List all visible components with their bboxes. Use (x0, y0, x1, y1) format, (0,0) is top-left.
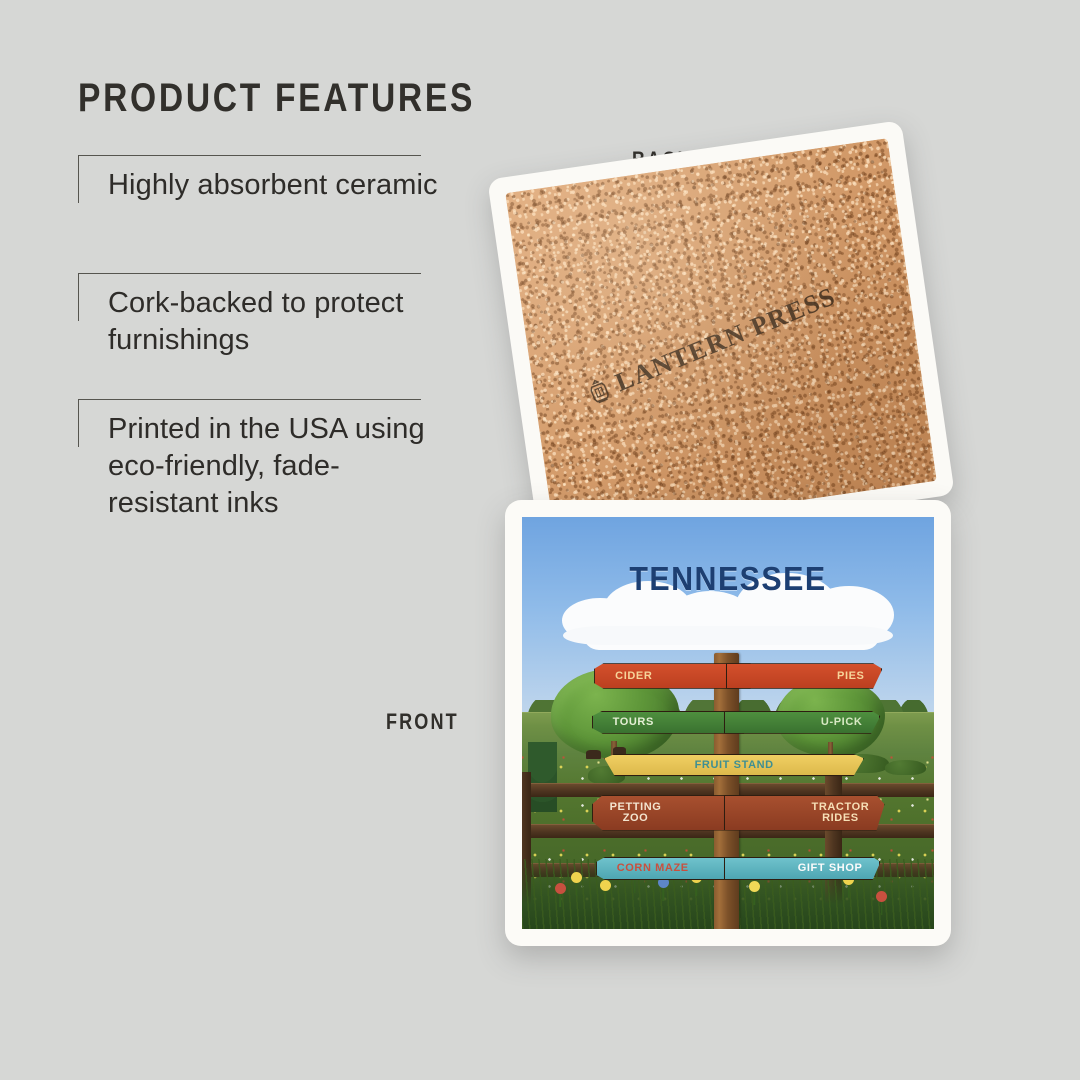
sign-fruit-stand: FRUIT STAND (604, 754, 864, 776)
artwork-surface: TENNESSEE (522, 517, 934, 929)
artwork-title: TENNESSEE (538, 560, 917, 598)
feature-divider-top (78, 399, 421, 400)
brand-stamp: LANTERN PRESS (583, 281, 840, 409)
sign-row: CORN MAZE GIFT SHOP (522, 857, 934, 880)
sign-row: TOURS U-PICK (522, 711, 934, 734)
lantern-icon (584, 375, 614, 407)
brand-text: LANTERN PRESS (611, 281, 840, 398)
sign-label: FRUIT STAND (695, 759, 774, 771)
feature-text: Cork-backed to protect furnishings (108, 285, 450, 359)
cloud-strip (563, 626, 893, 645)
feature-divider-left (78, 155, 79, 203)
sign-petting-zoo: PETTING ZOO (592, 795, 744, 830)
cork-surface: LANTERN PRESS (505, 138, 936, 536)
feature-divider-top (78, 155, 421, 156)
sign-label: CORN MAZE (617, 862, 689, 874)
sign-label: PIES (837, 670, 864, 682)
sign-label: CIDER (615, 670, 652, 682)
flower (749, 881, 760, 892)
feature-item: Cork-backed to protect furnishings (78, 273, 450, 399)
flower (600, 880, 611, 891)
sign-row: FRUIT STAND (522, 754, 934, 776)
sign-gift-shop: GIFT SHOP (724, 857, 881, 880)
sign-label: U-PICK (821, 716, 863, 728)
sign-label: GIFT SHOP (798, 862, 863, 874)
feature-item: Highly absorbent ceramic (78, 155, 450, 273)
coaster-back: LANTERN PRESS (487, 120, 955, 554)
product-listing-image: PRODUCT FEATURES Highly absorbent cerami… (0, 0, 1080, 1080)
coaster-front: TENNESSEE (505, 500, 951, 946)
feature-item: Printed in the USA using eco-friendly, f… (78, 399, 450, 559)
feature-text: Highly absorbent ceramic (108, 167, 450, 204)
product-features-panel: PRODUCT FEATURES Highly absorbent cerami… (78, 76, 450, 559)
flower (555, 883, 566, 894)
feature-divider-left (78, 273, 79, 321)
sign-label: PETTING ZOO (610, 802, 662, 824)
sign-pies: PIES (726, 663, 883, 689)
sign-label: TOURS (613, 716, 654, 728)
sign-label: TRACTOR RIDES (812, 802, 870, 824)
sign-tractor-rides: TRACTOR RIDES (724, 795, 885, 830)
feature-divider-top (78, 273, 421, 274)
signpost (714, 653, 740, 929)
sign-tours: TOURS (592, 711, 744, 734)
page-title: PRODUCT FEATURES (78, 76, 390, 121)
feature-divider-left (78, 399, 79, 447)
feature-text: Printed in the USA using eco-friendly, f… (108, 411, 450, 522)
sign-row: PETTING ZOO TRACTOR RIDES (522, 795, 934, 830)
sign-upick: U-PICK (724, 711, 881, 734)
flower (876, 891, 887, 902)
front-label: FRONT (386, 709, 459, 735)
sign-row: CIDER PIES (522, 663, 934, 689)
